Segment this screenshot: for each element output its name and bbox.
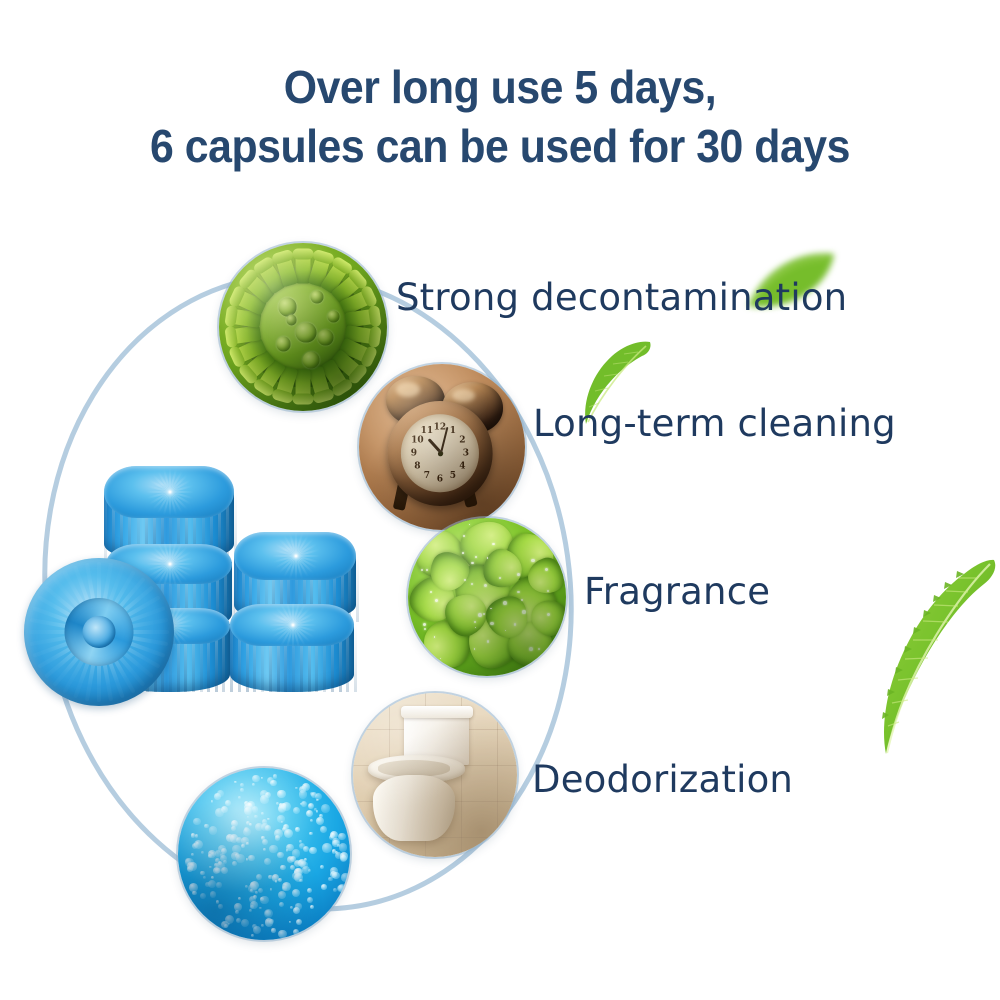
tablet-rib: [354, 624, 357, 692]
dew-drop: [413, 630, 414, 631]
clover-leaves-icon: [408, 518, 566, 676]
feature-icon-fragrance: [408, 518, 566, 676]
feature-icon-deodorization: [353, 693, 517, 857]
alarm-clock-icon: 123456789101112: [359, 364, 525, 530]
feature-icon-long-term-cleaning: 123456789101112: [359, 364, 525, 530]
feature-label-long-term-cleaning: Long-term cleaning: [533, 402, 896, 445]
infographic-canvas: Over long use 5 days, 6 capsules can be …: [0, 0, 1000, 1000]
feature-label-fragrance: Fragrance: [584, 570, 770, 613]
water-bubbles-icon: [178, 768, 350, 940]
dew-drop: [414, 660, 417, 663]
leaf-large-icon: [872, 558, 1000, 758]
bathroom-tile: [497, 837, 517, 857]
page-title: Over long use 5 days, 6 capsules can be …: [35, 58, 965, 176]
headline-line-1: Over long use 5 days,: [35, 58, 965, 117]
dew-drop: [548, 524, 550, 526]
feature-label-strong-decontamination: Strong decontamination: [396, 276, 847, 319]
tablet-rib: [356, 556, 359, 622]
blue-foaming-water-photo: [178, 768, 350, 940]
tablet-right-bottom: [230, 604, 354, 696]
product-tablets-photo: [22, 462, 362, 712]
toilet-icon: [353, 693, 517, 857]
tablet-front-face: [24, 558, 174, 706]
feature-label-deodorization: Deodorization: [532, 758, 793, 801]
headline-line-2: 6 capsules can be used for 30 days: [35, 117, 965, 176]
